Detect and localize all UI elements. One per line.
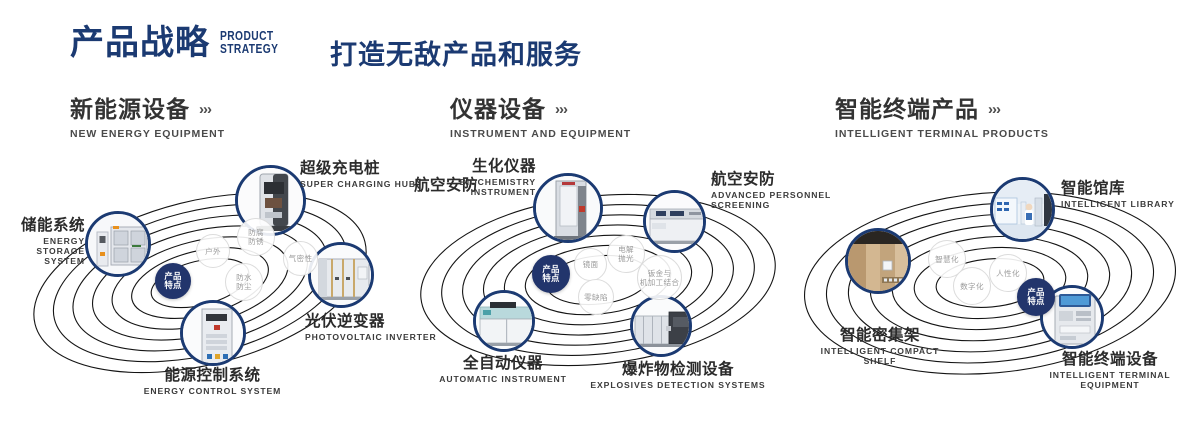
intelligent-library-photo xyxy=(993,180,1052,239)
label-en: AUTOMATIC INSTRUMENT xyxy=(428,375,578,385)
label-en: ENERGY STORAGE SYSTEM xyxy=(0,237,85,266)
cluster-intelligent-terminal-products: 智能馆库 INTELLIGENT LIBRARY xyxy=(795,155,1195,405)
chevron-right-icon: ››› xyxy=(988,102,1000,117)
label-intelligent-terminal-equipment: 智能终端设备 INTELLIGENT TERMINAL EQUIPMENT xyxy=(1020,351,1200,391)
automatic-instrument-photo xyxy=(476,293,532,349)
feature-bubble-waterproof-dustproof: 防水 防尘 xyxy=(225,263,263,301)
label-en: INTELLIGENT COMPACT SHELF xyxy=(805,347,955,366)
label-explosives-detection-systems: 爆炸物检测设备 EXPLOSIVES DETECTION SYSTEMS xyxy=(583,361,773,391)
label-energy-storage-system: 储能系统 ENERGY STORAGE SYSTEM xyxy=(0,217,85,266)
label-cn: 全自动仪器 xyxy=(428,355,578,372)
photovoltaic-inverter-photo xyxy=(311,245,371,305)
label-cn: 智能终端设备 xyxy=(1020,351,1200,368)
label-en: INTELLIGENT LIBRARY xyxy=(1061,200,1200,210)
feature-bubble-sheetmetal-machining: 钣金与 机加工结合 xyxy=(637,255,682,300)
cluster-instrument-and-equipment: 航空安防 生化仪器 BIOCHEMISTRY INSTRUMENT xyxy=(398,155,798,405)
label-cn: 爆炸物检测设备 xyxy=(583,361,773,378)
poster-header: 产品战略 PRODUCT STRATEGY xyxy=(70,26,291,60)
feature-core-badge: 产品 特点 xyxy=(532,255,570,293)
biochemistry-instrument-photo xyxy=(536,176,600,240)
node-photovoltaic-inverter[interactable] xyxy=(308,242,374,308)
chevron-right-icon: ››› xyxy=(199,102,211,117)
label-cn: 储能系统 xyxy=(0,217,85,234)
feature-bubble-anticorrosion: 防腐 防锈 xyxy=(237,218,275,256)
section-heading-new-energy: 新能源设备 ››› NEW ENERGY EQUIPMENT xyxy=(70,98,225,140)
label-automatic-instrument: 全自动仪器 AUTOMATIC INSTRUMENT xyxy=(428,355,578,385)
personnel-screening-photo xyxy=(646,193,703,250)
label-en: EXPLOSIVES DETECTION SYSTEMS xyxy=(583,381,773,391)
label-cn: 智能馆库 xyxy=(1061,180,1200,197)
energy-storage-photo xyxy=(88,214,148,274)
energy-control-photo xyxy=(183,303,243,363)
label-intelligent-library: 智能馆库 INTELLIGENT LIBRARY xyxy=(1061,180,1200,210)
feature-core-badge: 产品 特点 xyxy=(155,263,191,299)
feature-bubble-zero-defect: 零缺陷 xyxy=(578,279,614,315)
section-heading-intelligent-terminal: 智能终端产品 ››› INTELLIGENT TERMINAL PRODUCTS xyxy=(835,98,1049,140)
label-cn: 智能密集架 xyxy=(805,327,955,344)
label-en: ENERGY CONTROL SYSTEM xyxy=(85,387,340,397)
feature-bubble-airtightness: 气密性 xyxy=(283,241,318,276)
feature-bubble-mirror: 镜面 xyxy=(574,248,607,281)
node-automatic-instrument[interactable] xyxy=(473,290,535,352)
label-energy-control-system: 能源控制系统 ENERGY CONTROL SYSTEM xyxy=(85,367,340,397)
section-title-en: INSTRUMENT AND EQUIPMENT xyxy=(450,128,631,140)
section-title-cn: 智能终端产品 xyxy=(835,98,979,121)
page-title: 产品战略 xyxy=(70,26,210,60)
section-title-cn: 新能源设备 xyxy=(70,98,190,121)
feature-bubble-digital: 数字化 xyxy=(953,267,991,305)
intelligent-compact-shelf-photo xyxy=(848,231,908,291)
section-title-en: NEW ENERGY EQUIPMENT xyxy=(70,128,225,140)
section-heading-instrument: 仪器设备 ››› INSTRUMENT AND EQUIPMENT xyxy=(450,98,631,140)
node-intelligent-compact-shelf[interactable] xyxy=(845,228,911,294)
poster-canvas: 产品战略 PRODUCT STRATEGY 打造无敌产品和服务 新能源设备 ››… xyxy=(0,0,1200,422)
cluster-new-energy-equipment: 储能系统 ENERGY STORAGE SYSTEM 超级充电桩 SUPER C… xyxy=(0,155,400,405)
label-en: INTELLIGENT TERMINAL EQUIPMENT xyxy=(1020,371,1200,390)
chevron-right-icon: ››› xyxy=(555,102,567,117)
label-intelligent-compact-shelf: 智能密集架 INTELLIGENT COMPACT SHELF xyxy=(805,327,955,367)
feature-bubble-outdoor: 户外 xyxy=(196,234,230,268)
node-explosives-detection-systems[interactable] xyxy=(630,295,692,357)
label-biochemistry-instrument: 生化仪器 BIOCHEMISTRY INSTRUMENT xyxy=(418,158,536,198)
label-cn: 能源控制系统 xyxy=(85,367,340,384)
node-biochemistry-instrument[interactable] xyxy=(533,173,603,243)
feature-core-badge: 产品 特点 xyxy=(1017,278,1055,316)
section-title-cn: 仪器设备 xyxy=(450,98,546,121)
node-advanced-personnel-screening[interactable] xyxy=(643,190,706,253)
label-en: BIOCHEMISTRY INSTRUMENT xyxy=(418,178,536,197)
node-energy-storage-system[interactable] xyxy=(85,211,151,277)
page-subtitle: 打造无敌产品和服务 xyxy=(330,33,582,72)
node-intelligent-library[interactable] xyxy=(990,177,1055,242)
node-energy-control-system[interactable] xyxy=(180,300,246,366)
page-title-english: PRODUCT STRATEGY xyxy=(220,30,278,56)
explosives-detection-photo xyxy=(633,298,689,354)
label-cn: 生化仪器 xyxy=(418,158,536,175)
section-title-en: INTELLIGENT TERMINAL PRODUCTS xyxy=(835,128,1049,140)
